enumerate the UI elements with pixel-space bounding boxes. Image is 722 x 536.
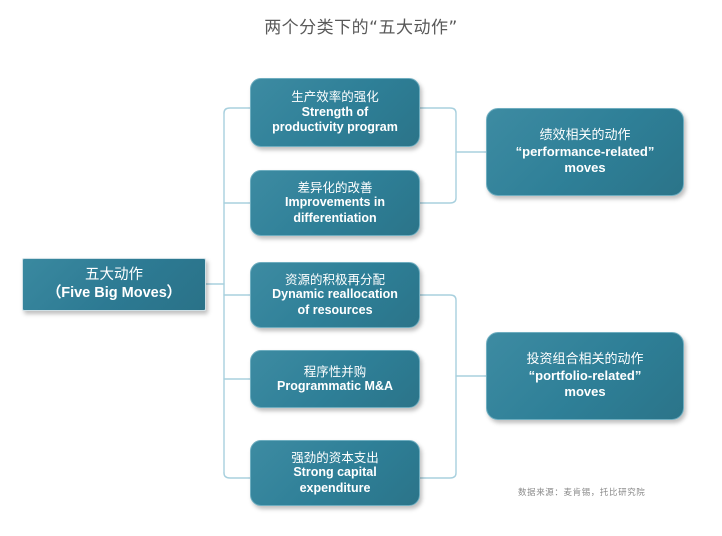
slide-canvas: 两个分类下的“五大动作” 五大动作 （Five Big Moves） 生产效率的… bbox=[0, 0, 722, 536]
node-five-big-moves[interactable]: 五大动作 （Five Big Moves） bbox=[22, 258, 206, 311]
node-category-portfolio[interactable]: 投资组合相关的动作 “portfolio-related” moves bbox=[486, 332, 684, 420]
source-note: 数据来源：麦肯锡，托比研究院 bbox=[518, 486, 645, 498]
connector-bracket-performance bbox=[420, 108, 456, 203]
node-label-cn: 资源的积极再分配 bbox=[285, 272, 385, 287]
connector-bracket-portfolio bbox=[420, 295, 456, 478]
node-move-productivity[interactable]: 生产效率的强化 Strength of productivity program bbox=[250, 78, 420, 147]
node-label-en-line1: Dynamic reallocation bbox=[272, 287, 398, 302]
node-label-en-line2: moves bbox=[564, 160, 605, 176]
node-label-en-line1: Strong capital bbox=[293, 465, 376, 480]
node-label-en-line2: expenditure bbox=[300, 481, 371, 496]
node-move-capex[interactable]: 强劲的资本支出 Strong capital expenditure bbox=[250, 440, 420, 506]
node-label-cn: 绩效相关的动作 bbox=[539, 128, 630, 144]
node-label-cn: 投资组合相关的动作 bbox=[526, 352, 643, 368]
node-label-en: （Five Big Moves） bbox=[47, 285, 182, 303]
node-move-differentiation[interactable]: 差异化的改善 Improvements in differentiation bbox=[250, 170, 420, 236]
node-label-cn: 五大动作 bbox=[85, 267, 143, 285]
node-move-ma[interactable]: 程序性并购 Programmatic M&A bbox=[250, 350, 420, 408]
node-label-en-line1: “portfolio-related” bbox=[529, 368, 642, 384]
node-label-en-line2: moves bbox=[564, 384, 605, 400]
node-move-reallocation[interactable]: 资源的积极再分配 Dynamic reallocation of resourc… bbox=[250, 262, 420, 328]
node-label-en-line1: Improvements in bbox=[285, 195, 385, 210]
connector-to-move-0 bbox=[224, 108, 250, 113]
node-label-en-line2: differentiation bbox=[293, 211, 376, 226]
connector-to-move-4 bbox=[224, 473, 250, 478]
node-label-en-line1: Strength of bbox=[302, 105, 369, 120]
node-label-en-line1: “performance-related” bbox=[516, 144, 655, 160]
node-label-cn: 强劲的资本支出 bbox=[291, 450, 379, 465]
node-label-en-line1: Programmatic M&A bbox=[277, 379, 393, 394]
node-label-cn: 程序性并购 bbox=[304, 364, 367, 379]
node-category-performance[interactable]: 绩效相关的动作 “performance-related” moves bbox=[486, 108, 684, 196]
node-label-en-line2: productivity program bbox=[272, 120, 398, 135]
node-label-cn: 差异化的改善 bbox=[297, 180, 372, 195]
node-label-en-line2: of resources bbox=[297, 303, 372, 318]
node-label-cn: 生产效率的强化 bbox=[291, 89, 379, 104]
